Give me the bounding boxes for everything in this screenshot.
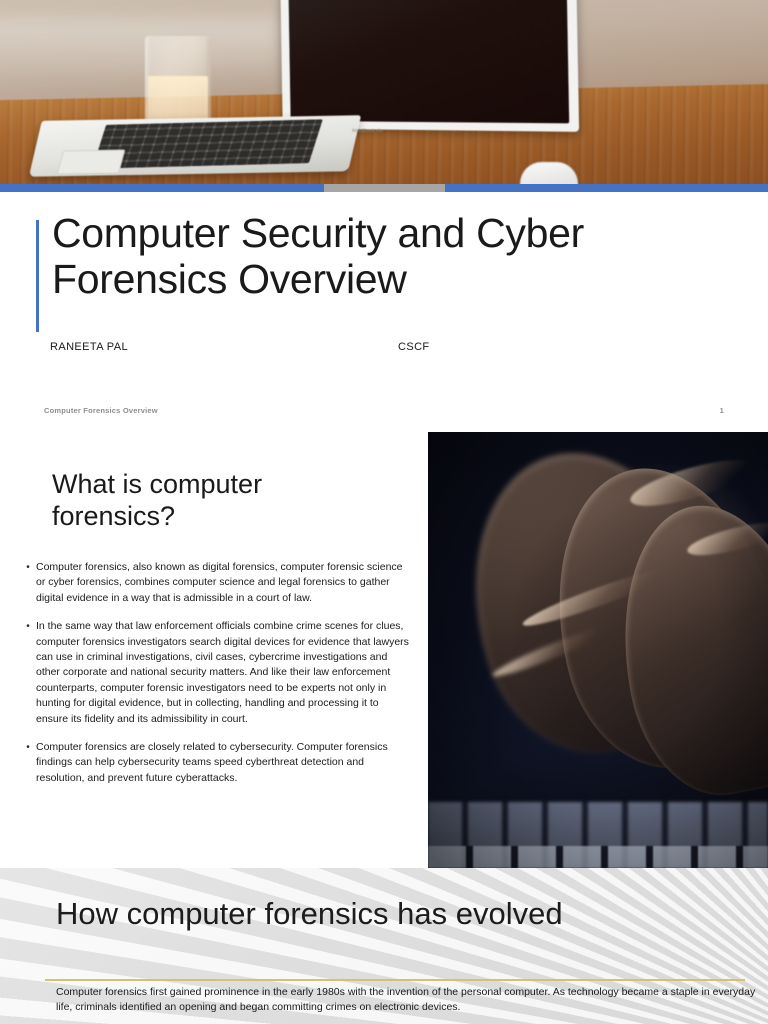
heading-divider xyxy=(45,979,745,981)
slide-number: 1 xyxy=(720,406,724,415)
bullet-dot-icon: • xyxy=(20,740,36,786)
list-item: • In the same way that law enforcement o… xyxy=(20,619,410,727)
slide-footer: Computer Forensics Overview 1 xyxy=(0,406,768,415)
footer-title: Computer Forensics Overview xyxy=(44,406,158,415)
slide-deck: MacBook Air Computer Security and Cyber … xyxy=(0,0,768,1024)
list-item-text: Computer forensics are closely related t… xyxy=(36,740,410,786)
bullet-list: • Computer forensics, also known as digi… xyxy=(20,560,410,799)
byline: RANEETA PAL CSCF xyxy=(50,341,750,353)
bullet-dot-icon: • xyxy=(20,619,36,727)
accent-segment-blue-right xyxy=(445,184,768,192)
accent-segment-gray xyxy=(324,184,445,192)
typing-hands-image xyxy=(428,432,768,868)
section-heading: What is computer forensics? xyxy=(52,468,382,533)
photo-vignette xyxy=(428,432,768,868)
list-item: • Computer forensics, also known as digi… xyxy=(20,560,410,606)
slide-how-computer-forensics-evolved: How computer forensics has evolved Compu… xyxy=(0,868,768,1024)
body-paragraph: Computer forensics first gained prominen… xyxy=(56,985,756,1016)
slide-what-is-computer-forensics: What is computer forensics? • Computer f… xyxy=(0,432,768,868)
list-item-text: In the same way that law enforcement off… xyxy=(36,619,410,727)
list-item: • Computer forensics are closely related… xyxy=(20,740,410,786)
bullet-dot-icon: • xyxy=(20,560,36,606)
author-name: RANEETA PAL xyxy=(50,341,398,353)
title-accent-rule xyxy=(36,220,39,332)
list-item-text: Computer forensics, also known as digita… xyxy=(36,560,410,606)
section-heading: How computer forensics has evolved xyxy=(56,896,563,932)
accent-strip xyxy=(0,184,768,192)
slide-title: MacBook Air Computer Security and Cyber … xyxy=(0,0,768,432)
organization-name: CSCF xyxy=(398,341,430,353)
hero-laptop-image: MacBook Air xyxy=(0,0,768,184)
page-title: Computer Security and Cyber Forensics Ov… xyxy=(52,210,712,303)
title-block: Computer Security and Cyber Forensics Ov… xyxy=(0,210,768,303)
accent-segment-blue-left xyxy=(0,184,324,192)
photo-blur-overlay xyxy=(0,0,768,184)
